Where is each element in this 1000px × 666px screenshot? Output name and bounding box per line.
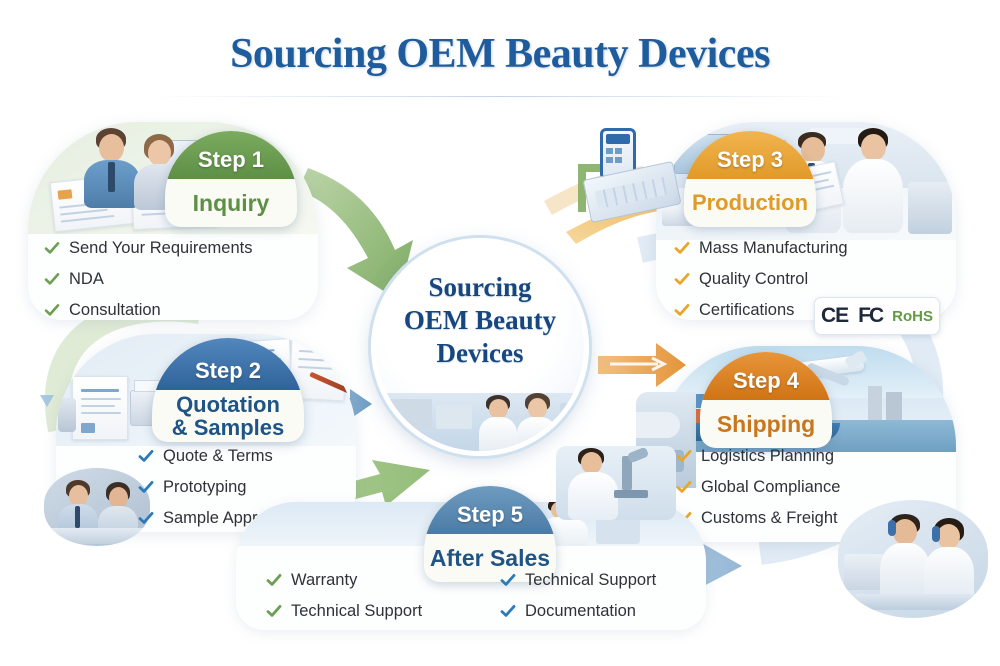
bullet-text: Mass Manufacturing	[699, 236, 848, 261]
bullet-text: Quote & Terms	[163, 444, 273, 469]
check-icon	[266, 603, 282, 619]
bullet-text: Logistics Planning	[701, 444, 834, 469]
ce-mark-icon: CE	[821, 304, 848, 328]
step-4-badge[interactable]: Step 4 Shipping	[700, 352, 832, 448]
step-1-bullets: Send Your Requirements NDA Consultation	[44, 236, 252, 328]
bullet-text: Warranty	[291, 568, 357, 593]
bullet-item: Global Compliance	[676, 475, 840, 500]
arrow-small-blue-chevron	[40, 395, 54, 407]
step-4-name: Shipping	[700, 400, 832, 448]
title-divider	[150, 96, 850, 97]
check-icon	[674, 271, 690, 287]
bullet-item: Quality Control	[674, 267, 848, 292]
center-hub-photo	[371, 393, 589, 455]
center-line-3: Devices	[376, 337, 584, 370]
step-5-support-photo	[838, 500, 988, 618]
check-icon	[44, 240, 60, 256]
center-line-2: OEM Beauty	[376, 304, 584, 337]
bullet-item: Technical Support	[266, 599, 422, 624]
scientist-female	[840, 128, 906, 232]
bullet-item: Mass Manufacturing	[674, 236, 848, 261]
step-1-name: Inquiry	[165, 179, 297, 227]
bullet-text: Technical Support	[525, 568, 656, 593]
bullet-text: Global Compliance	[701, 475, 840, 500]
step-2-badge[interactable]: Step 2 Quotation & Samples	[152, 338, 304, 442]
center-line-1: Sourcing	[376, 271, 584, 304]
bullet-item: Warranty	[266, 568, 422, 593]
certification-badges: CE FC RoHS	[814, 297, 940, 335]
bullet-item: Consultation	[44, 298, 252, 323]
rohs-mark-icon: RoHS	[892, 308, 933, 325]
bullet-text: Quality Control	[699, 267, 808, 292]
check-icon	[138, 510, 154, 526]
check-icon	[676, 479, 692, 495]
step-3-badge[interactable]: Step 3 Production	[684, 131, 816, 227]
check-icon	[500, 572, 516, 588]
bullet-item: Prototyping	[138, 475, 288, 500]
check-icon	[674, 240, 690, 256]
bullet-item: Documentation	[500, 599, 656, 624]
center-hub-text: Sourcing OEM Beauty Devices	[376, 271, 584, 370]
check-icon	[138, 448, 154, 464]
check-icon	[44, 302, 60, 318]
lab-microscope-photo	[556, 446, 676, 520]
step-1-label: Step 1	[165, 131, 297, 179]
step-4-label: Step 4	[700, 352, 832, 400]
bullet-item: Logistics Planning	[676, 444, 840, 469]
step-5-bullets-right: Technical Support Documentation	[500, 568, 656, 630]
step-3-device-photo	[556, 122, 676, 232]
center-hub: Sourcing OEM Beauty Devices	[371, 238, 589, 456]
bullet-item: Send Your Requirements	[44, 236, 252, 261]
step-3-name: Production	[684, 179, 816, 227]
step-1-badge[interactable]: Step 1 Inquiry	[165, 131, 297, 227]
bullet-text: Certifications	[699, 298, 794, 323]
check-icon	[500, 603, 516, 619]
bullet-text: Technical Support	[291, 599, 422, 624]
bullet-item: Technical Support	[500, 568, 656, 593]
check-icon	[674, 302, 690, 318]
infographic-canvas: Sourcing OEM Beauty Devices	[0, 0, 1000, 666]
check-icon	[138, 479, 154, 495]
bullet-text: Customs & Freight	[701, 506, 838, 531]
step-2-label: Step 2	[152, 338, 304, 390]
check-icon	[44, 271, 60, 287]
step-2-name-line2: & Samples	[172, 416, 285, 439]
fcc-mark-icon: FC	[858, 304, 882, 328]
check-icon	[676, 448, 692, 464]
bullet-text: Send Your Requirements	[69, 236, 252, 261]
bullet-text: Prototyping	[163, 475, 246, 500]
step-2-name: Quotation & Samples	[152, 390, 304, 442]
bullet-text: Consultation	[69, 298, 161, 323]
step-2-name-line1: Quotation	[176, 393, 280, 416]
bullet-item: Quote & Terms	[138, 444, 288, 469]
bullet-item: NDA	[44, 267, 252, 292]
check-icon	[266, 572, 282, 588]
bullet-text: NDA	[69, 267, 104, 292]
step-2-people-photo	[44, 468, 150, 546]
step-5-bullets-left: Warranty Technical Support	[266, 568, 422, 630]
step-3-label: Step 3	[684, 131, 816, 179]
step-5-label: Step 5	[424, 486, 556, 534]
bullet-text: Documentation	[525, 599, 636, 624]
page-title: Sourcing OEM Beauty Devices	[0, 30, 1000, 78]
